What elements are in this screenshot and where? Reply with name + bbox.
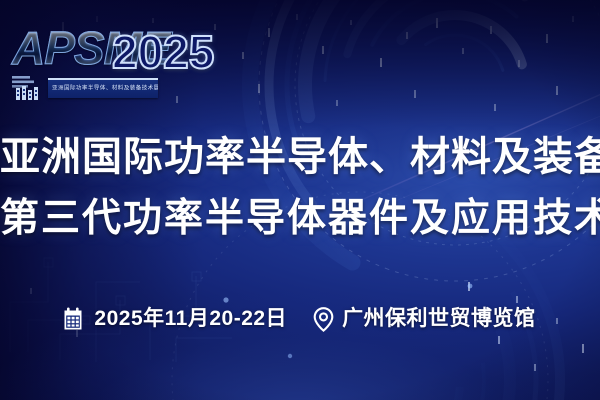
event-venue: 广州保利世贸博览馆 xyxy=(313,306,536,332)
event-logo[interactable]: APSME 2025 xyxy=(8,22,198,100)
event-date: 2025年11月20-22日 xyxy=(64,306,287,332)
event-venue-text: 广州保利世贸博览馆 xyxy=(342,306,536,332)
event-info-row: 2025年11月20-22日 广州保利世贸博览馆 xyxy=(0,306,600,332)
building-stack-icon xyxy=(12,72,48,100)
event-date-text: 2025年11月20-22日 xyxy=(94,306,287,332)
logo-year: 2025 xyxy=(112,26,214,78)
event-banner: APSME 2025 xyxy=(0,0,600,400)
title-line-2: 第三代功率半导体器件及应用技术展览会 xyxy=(0,188,600,250)
logo-tagline: 亚洲国际功率半导体、材料及装备技术展览会 xyxy=(52,85,158,92)
logo-tagline-bar: 亚洲国际功率半导体、材料及装备技术展览会 xyxy=(48,78,158,98)
banner-titles: 亚洲国际功率半导体、材料及装备技术展览会 第三代功率半导体器件及应用技术展览会 xyxy=(0,126,600,250)
location-pin-icon xyxy=(313,307,334,332)
calendar-icon xyxy=(64,307,86,331)
title-line-1: 亚洲国际功率半导体、材料及装备技术展览会 xyxy=(0,126,600,188)
